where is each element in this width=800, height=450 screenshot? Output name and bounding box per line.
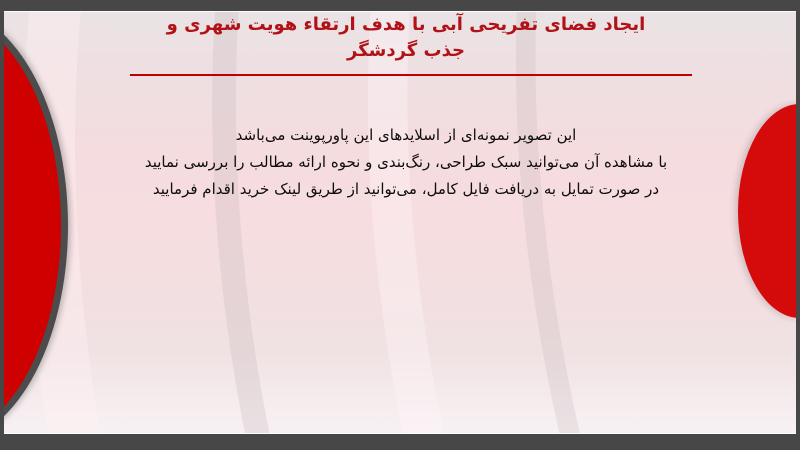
slide-title-line-2: جذب گردشگر [108, 38, 704, 64]
body-line-1: این تصویر نمونه‌ای از اسلایدهای این پاور… [120, 122, 692, 149]
slide-title-line-1: ایجاد فضای تفریحی آبی با هدف ارتقاء هویت… [108, 12, 704, 38]
body-line-3: در صورت تمایل به دریافت فایل کامل، می‌تو… [120, 176, 692, 203]
slide-content: ایجاد فضای تفریحی آبی با هدف ارتقاء هویت… [0, 0, 800, 450]
slide-title: ایجاد فضای تفریحی آبی با هدف ارتقاء هویت… [108, 12, 704, 64]
presentation-slide: ایجاد فضای تفریحی آبی با هدف ارتقاء هویت… [0, 0, 800, 450]
slide-body-text: این تصویر نمونه‌ای از اسلایدهای این پاور… [120, 122, 692, 203]
title-divider-rule [130, 74, 692, 76]
body-line-2: با مشاهده آن می‌توانید سبک طراحی، رنگ‌بن… [120, 149, 692, 176]
